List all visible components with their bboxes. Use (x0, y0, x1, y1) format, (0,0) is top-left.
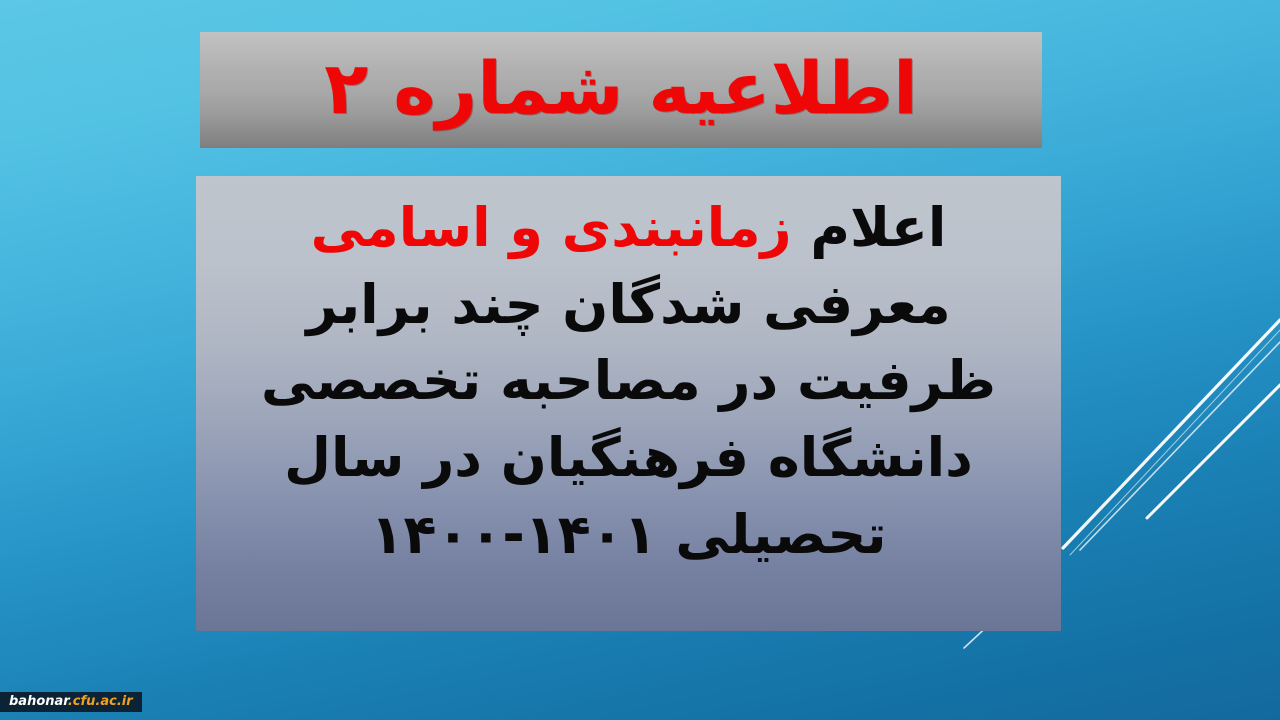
streak-3 (1070, 330, 1280, 555)
announcement-highlight: زمانبندی و اسامی (311, 196, 792, 259)
streak-2 (1080, 342, 1280, 550)
announcement-line: اعلام زمانبندی و اسامی (218, 190, 1039, 267)
streak-1 (1063, 320, 1280, 548)
announcement-line: معرفی شدگان چند برابر (218, 267, 1039, 344)
content-plaque: اعلام زمانبندی و اسامیمعرفی شدگان چند بر… (196, 176, 1061, 631)
watermark-site-name: bahonar (9, 694, 68, 709)
announcement-text: تحصیلی ۱۴۰۱-۱۴۰۰ (370, 503, 886, 566)
title-plaque: اطلاعیه شماره ۲ (200, 32, 1042, 148)
announcement-text: ظرفیت در مصاحبه تخصصی (261, 349, 996, 412)
announcement-body: اعلام زمانبندی و اسامیمعرفی شدگان چند بر… (218, 190, 1039, 573)
announcement-text: معرفی شدگان چند برابر (306, 273, 950, 336)
streak-4 (1147, 385, 1280, 518)
page-title: اطلاعیه شماره ۲ (324, 52, 918, 124)
presentation-slide: اطلاعیه شماره ۲ اعلام زمانبندی و اسامیمع… (0, 0, 1280, 720)
announcement-line: دانشگاه فرهنگیان در سال (218, 420, 1039, 497)
announcement-text: دانشگاه فرهنگیان در سال (284, 426, 973, 489)
announcement-text: اعلام (792, 196, 947, 259)
site-watermark: bahonar.cfu.ac.ir (0, 692, 142, 712)
announcement-line: ظرفیت در مصاحبه تخصصی (218, 343, 1039, 420)
watermark-site-domain: .cfu.ac.ir (68, 694, 133, 709)
announcement-line: تحصیلی ۱۴۰۱-۱۴۰۰ (218, 497, 1039, 574)
